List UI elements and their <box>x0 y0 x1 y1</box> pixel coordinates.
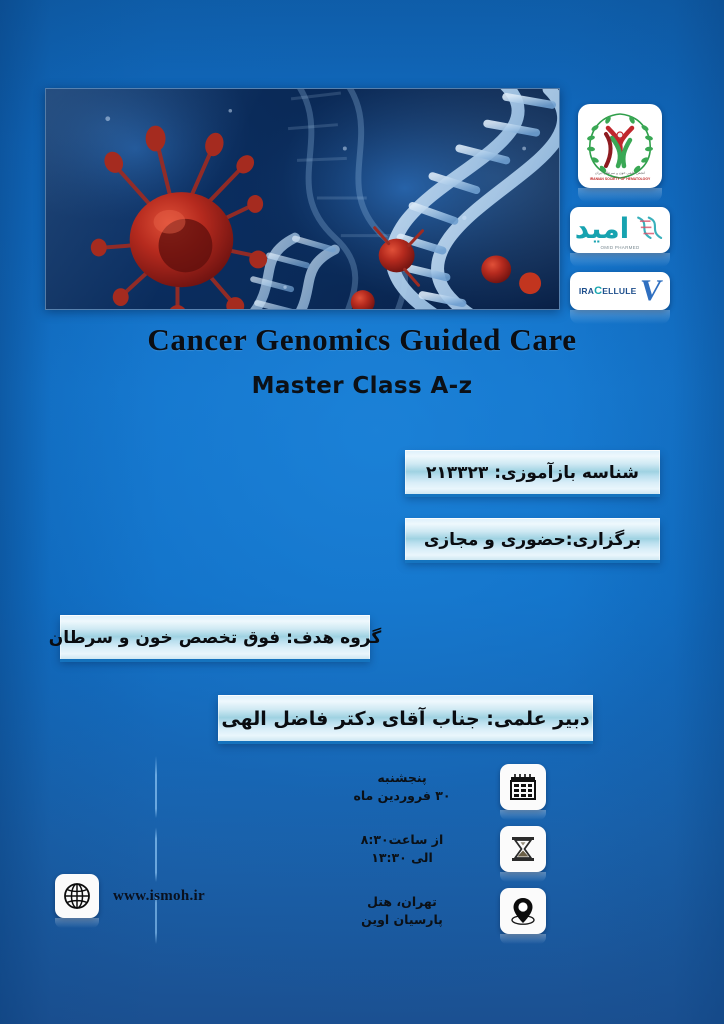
viracellule-v-mark: V <box>638 279 663 303</box>
place-text: تهران، هتل پارسیان اوین <box>330 893 460 929</box>
hourglass-icon-reflection <box>500 872 546 882</box>
hero-banner-dna-image <box>45 88 560 310</box>
time-text: از ساعت۸:۳۰ الی ۱۳:۳۰ <box>330 831 460 867</box>
viracellule-logo-text: IRACELLULE <box>579 285 637 297</box>
delivery-mode-text: برگزاری:حضوری و مجازی <box>410 530 655 550</box>
iranian-society-logo: انجمن علمی خون و سرطان ایران IRANIAN SOC… <box>578 104 662 188</box>
event-details: پنجشنبه ۳۰ فروردین ماه <box>330 758 560 944</box>
viracellule-logo: V IRACELLULE <box>570 272 670 310</box>
location-pin-icon-reflection <box>500 934 546 944</box>
website-url[interactable]: www.ismoh.ir <box>113 888 205 905</box>
ribbon-wreath-crest-icon: انجمن علمی خون و سرطان ایران IRANIAN SOC… <box>578 104 662 188</box>
scientific-chair-text: دبیر علمی: جناب آقای دکتر فاضل الهی <box>207 708 603 730</box>
retraining-id-text: شناسه بازآموزی: ۲۱۳۳۲۳ <box>412 463 653 483</box>
date-text: پنجشنبه ۳۰ فروردین ماه <box>330 769 460 805</box>
plaque-retraining-id: شناسه بازآموزی: ۲۱۳۳۲۳ <box>405 450 660 494</box>
globe-icon-reflection <box>55 918 99 928</box>
plaque-scientific-chair: دبیر علمی: جناب آقای دکتر فاضل الهی <box>218 695 593 741</box>
calendar-icon-reflection <box>500 810 546 820</box>
poster-title: Cancer Genomics Guided Care <box>0 322 724 358</box>
conference-poster: انجمن علمی خون و سرطان ایران IRANIAN SOC… <box>0 0 724 1024</box>
poster-subtitle: Master Class A-z <box>0 373 724 399</box>
calendar-icon <box>500 764 546 810</box>
omid-logo-subtext: OMID PHARMED <box>570 245 670 250</box>
omid-logo-text: امید <box>575 215 630 243</box>
omid-logo-reflection <box>570 253 670 267</box>
hourglass-icon <box>500 826 546 872</box>
plaque-delivery-mode: برگزاری:حضوری و مجازی <box>405 518 660 560</box>
plaque-target-group: گروه هدف: فوق تخصص خون و سرطان <box>60 615 370 659</box>
crest-caption: انجمن علمی خون و سرطان ایران IRANIAN SOC… <box>578 171 662 182</box>
dna-helix-cancer-cells-illustration <box>46 89 559 309</box>
location-pin-icon <box>500 888 546 934</box>
globe-icon <box>55 874 99 918</box>
omid-logo: امید OMID PHARMED <box>570 207 670 253</box>
society-logo-reflection <box>578 188 662 202</box>
target-group-text: گروه هدف: فوق تخصص خون و سرطان <box>35 628 395 648</box>
website-row[interactable]: www.ismoh.ir <box>55 874 205 918</box>
omid-dna-mark-icon <box>629 215 665 245</box>
